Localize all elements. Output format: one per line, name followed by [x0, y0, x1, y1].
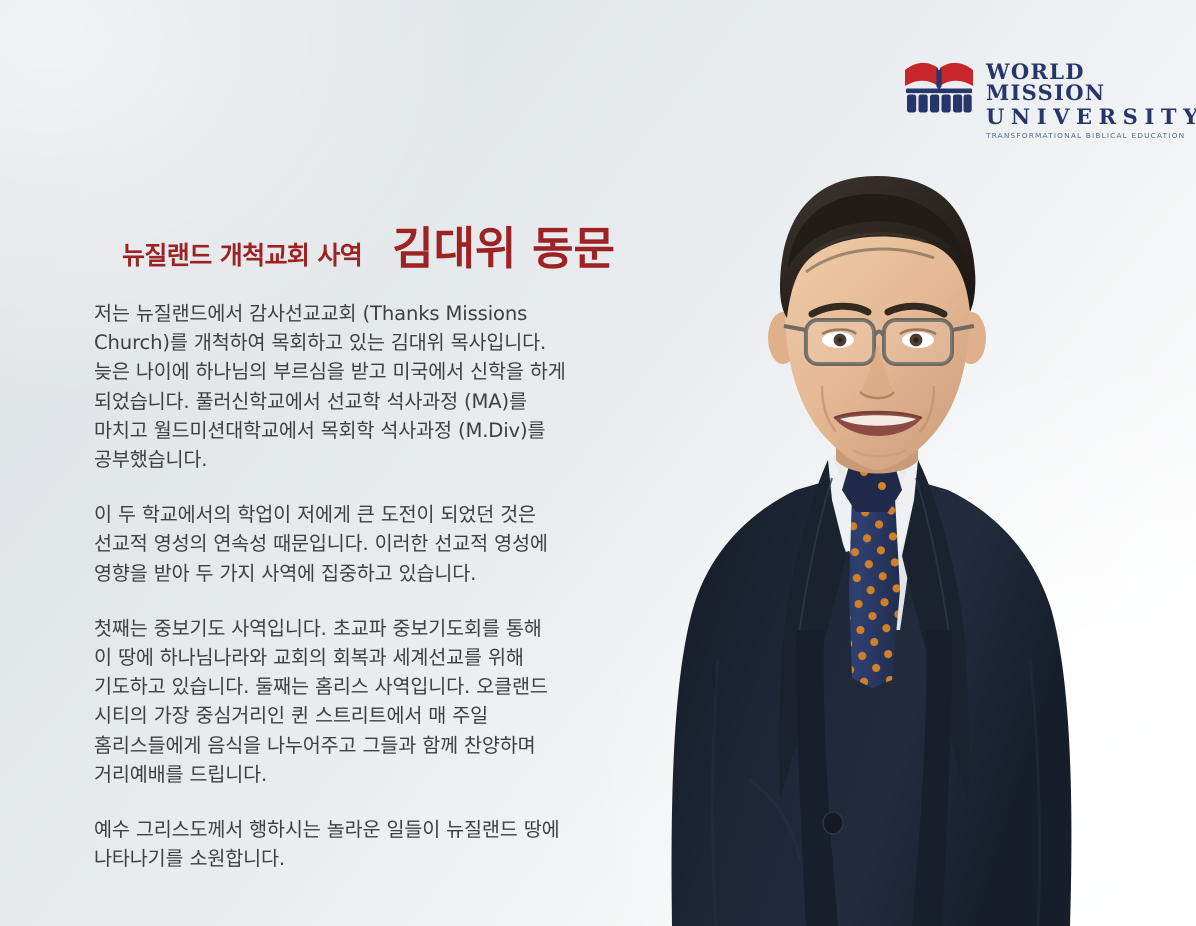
logo-line-university: UNIVERSITY [986, 106, 1196, 127]
title-eyebrow: 뉴질랜드 개척교회 사역 [122, 236, 362, 272]
university-logo: WORLD MISSION UNIVERSITY TRANSFORMATIONA… [903, 56, 1196, 139]
slide-canvas: WORLD MISSION UNIVERSITY TRANSFORMATIONA… [0, 0, 1196, 926]
article-body: 저는 뉴질랜드에서 감사선교교회 (Thanks Missions Church… [94, 299, 654, 873]
body-paragraph: 첫째는 중보기도 사역입니다. 초교파 중보기도회를 통해 이 땅에 하나님나라… [94, 614, 654, 789]
body-paragraph: 저는 뉴질랜드에서 감사선교교회 (Thanks Missions Church… [94, 299, 654, 474]
logo-tagline: TRANSFORMATIONAL BIBLICAL EDUCATION [986, 132, 1196, 139]
logo-line-world-mission: WORLD MISSION [986, 61, 1196, 103]
alumnus-portrait-photo [600, 160, 1160, 926]
logo-wordmark: WORLD MISSION UNIVERSITY TRANSFORMATIONA… [986, 56, 1196, 139]
title-headline: 김대위 동문 [392, 212, 615, 277]
body-paragraph: 예수 그리스도께서 행하시는 놀라운 일들이 뉴질랜드 땅에 나타나기를 소원합… [94, 815, 654, 873]
body-paragraph: 이 두 학교에서의 학업이 저에게 큰 도전이 되었던 것은 선교적 영성의 연… [94, 500, 654, 588]
page-title: 뉴질랜드 개척교회 사역 김대위 동문 [122, 212, 615, 277]
open-book-pillars-icon [903, 56, 975, 118]
